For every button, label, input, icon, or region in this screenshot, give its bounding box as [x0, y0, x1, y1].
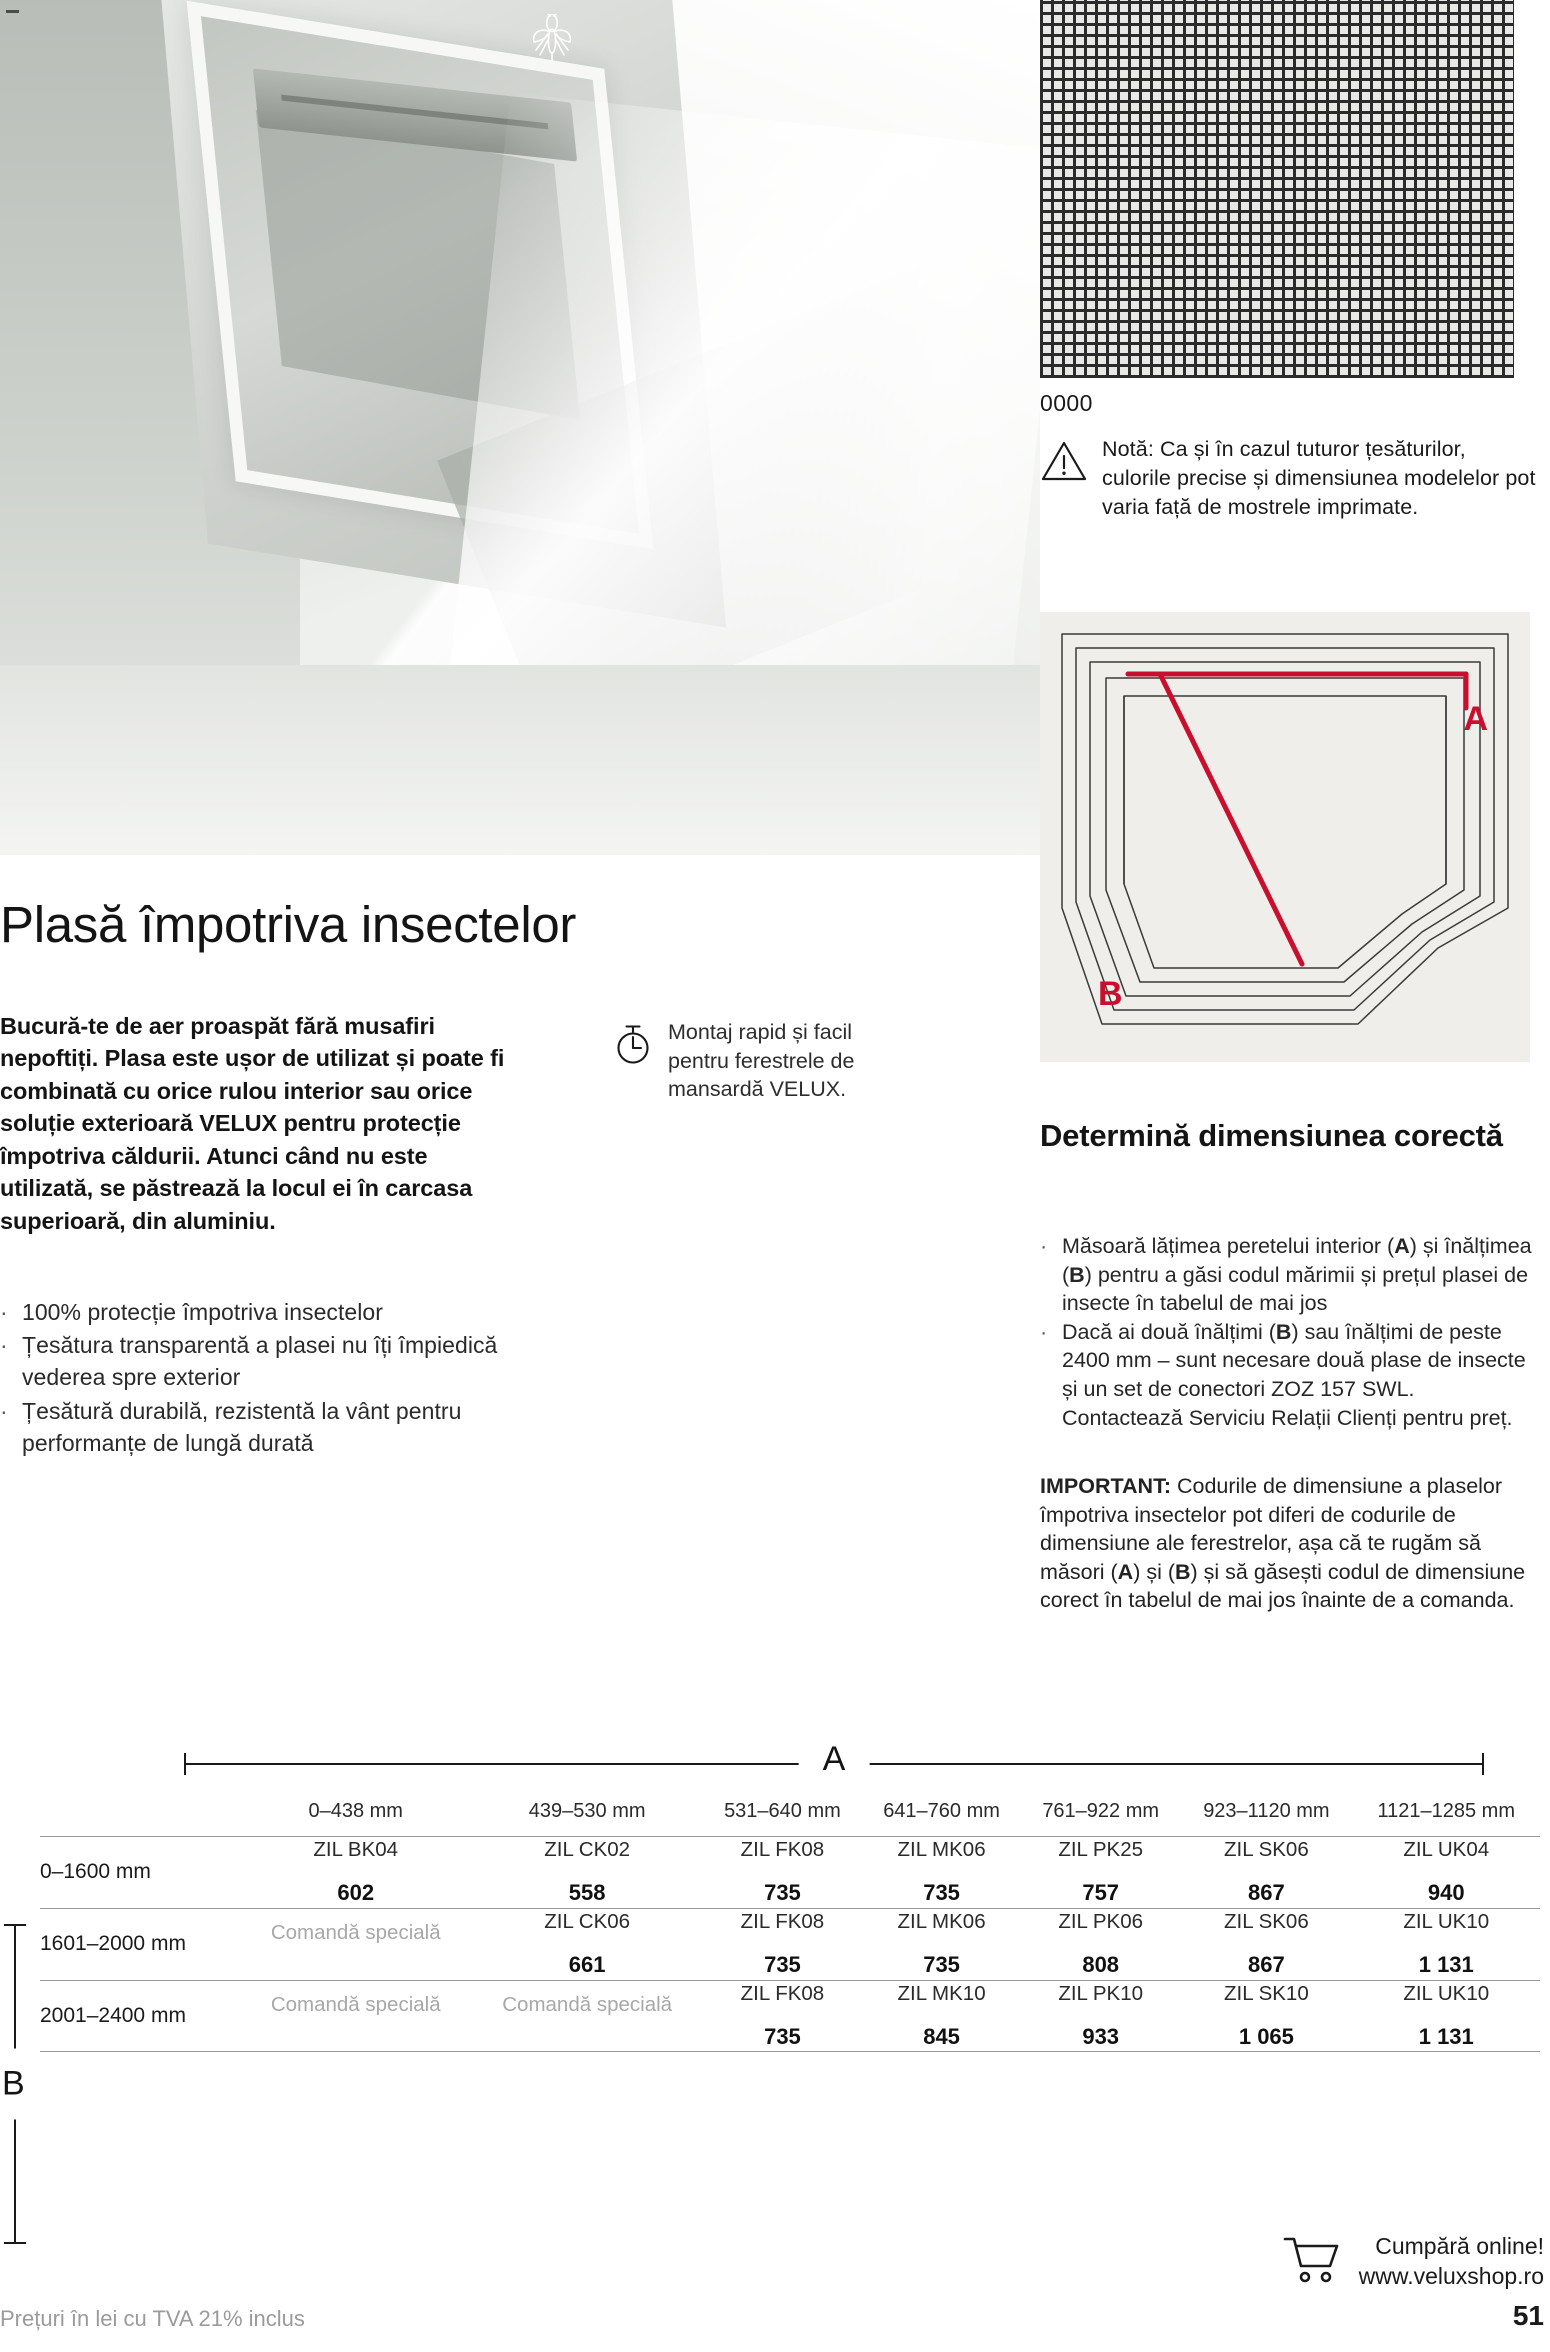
- instruction-text: Măsoară lățimea peretelui interior (A) ș…: [1062, 1232, 1540, 1318]
- column-header: 1121–1285 mm: [1353, 1800, 1540, 1837]
- product-price: 933: [1021, 2023, 1180, 2052]
- product-code: ZIL PK25: [1021, 1837, 1180, 1863]
- fabric-swatch-image: [1040, 0, 1514, 378]
- product-price: 940: [1353, 1879, 1540, 1908]
- column-header: 439–530 mm: [471, 1800, 702, 1837]
- column-header: 0–438 mm: [240, 1800, 471, 1837]
- product-code: ZIL MK10: [862, 1981, 1021, 2007]
- table-cell: ZIL CK02 558: [471, 1837, 702, 1909]
- table-cell: ZIL SK06 867: [1180, 1837, 1352, 1909]
- product-price: 602: [240, 1879, 471, 1908]
- minus-mark-icon: [6, 10, 19, 13]
- shop-online-callout[interactable]: Cumpără online! www.veluxshop.ro: [1283, 2232, 1544, 2292]
- product-price: 735: [703, 1951, 862, 1980]
- table-row: 0–1600 mm ZIL BK04 602 ZIL CK02 558 ZIL …: [40, 1837, 1540, 1909]
- page-number: 51: [1513, 2300, 1544, 2332]
- column-header: 641–760 mm: [862, 1800, 1021, 1837]
- shop-online-line1: Cumpără online!: [1375, 2233, 1544, 2259]
- product-code: ZIL MK06: [862, 1909, 1021, 1935]
- product-price: 735: [703, 2023, 862, 2052]
- important-note: IMPORTANT: Codurile de dimensiune a plas…: [1040, 1472, 1545, 1615]
- fabric-note-text: Notă: Ca și în cazul tuturor țesăturilor…: [1102, 435, 1540, 521]
- table-cell: Comandă specială: [240, 1908, 471, 1980]
- photo-floor: [0, 665, 1040, 855]
- table-row: 1601–2000 mm Comandă specială ZIL CK06 6…: [40, 1908, 1540, 1980]
- product-price: 735: [703, 1879, 862, 1908]
- product-code: ZIL SK06: [1180, 1909, 1352, 1935]
- table-cell: ZIL FK08 735: [703, 1908, 862, 1980]
- table-body: 0–1600 mm ZIL BK04 602 ZIL CK02 558 ZIL …: [40, 1837, 1540, 2052]
- fabric-code: 0000: [1040, 390, 1093, 417]
- feature-list: · 100% protecție împotriva insectelor · …: [0, 1296, 520, 1460]
- row-label: 1601–2000 mm: [40, 1908, 240, 1980]
- page-title: Plasă împotriva insectelor: [0, 895, 576, 954]
- product-price: 845: [862, 2023, 1021, 2052]
- axis-b-cap-top: [4, 1924, 26, 1926]
- lead-paragraph: Bucură-te de aer proaspăt fără musafiri …: [0, 1010, 508, 1237]
- column-header-rowlabel: [40, 1800, 240, 1837]
- column-header: 531–640 mm: [703, 1800, 862, 1837]
- measurement-diagram: A B: [1040, 612, 1530, 1062]
- special-order-label: Comandă specială: [471, 1992, 702, 2018]
- table-cell: ZIL MK06 735: [862, 1908, 1021, 1980]
- bullet-glyph: ·: [1040, 1318, 1046, 1432]
- list-item: · Țesătura transparentă a plasei nu îți …: [0, 1329, 520, 1393]
- sizing-instructions: · Măsoară lățimea peretelui interior (A)…: [1040, 1232, 1540, 1432]
- spacer: [471, 2018, 702, 2040]
- product-price: 757: [1021, 1879, 1180, 1908]
- table-cell: ZIL UK10 1 131: [1353, 1980, 1540, 2052]
- table-cell: ZIL FK08 735: [703, 1980, 862, 2052]
- row-label: 2001–2400 mm: [40, 1980, 240, 2052]
- table-cell: ZIL SK06 867: [1180, 1908, 1352, 1980]
- table-cell: ZIL UK10 1 131: [1353, 1908, 1540, 1980]
- table-cell: ZIL MK06 735: [862, 1837, 1021, 1909]
- axis-b-indicator: B: [4, 1924, 44, 2244]
- axis-b-cap-bottom: [4, 2242, 26, 2244]
- table-cell: ZIL MK10 845: [862, 1980, 1021, 2052]
- product-code: ZIL UK04: [1353, 1837, 1540, 1863]
- hero-photo: [0, 0, 1040, 855]
- product-code: ZIL PK10: [1021, 1981, 1180, 2007]
- axis-a-cap-left: [184, 1753, 186, 1775]
- important-heading: IMPORTANT:: [1040, 1474, 1171, 1498]
- special-order-label: Comandă specială: [240, 1920, 471, 1946]
- column-header: 923–1120 mm: [1180, 1800, 1352, 1837]
- product-price: 735: [862, 1879, 1021, 1908]
- right-heading: Determină dimensiunea corectă: [1040, 1118, 1540, 1154]
- list-item: · Țesătură durabilă, rezistentă la vânt …: [0, 1395, 520, 1459]
- table-cell: ZIL SK10 1 065: [1180, 1980, 1352, 2052]
- bullet-glyph: ·: [1040, 1232, 1046, 1318]
- product-code: ZIL SK06: [1180, 1837, 1352, 1863]
- list-item: · Măsoară lățimea peretelui interior (A)…: [1040, 1232, 1540, 1318]
- mosquito-icon: [529, 14, 575, 62]
- table-cell: ZIL BK04 602: [240, 1837, 471, 1909]
- table-cell: Comandă specială: [471, 1980, 702, 2052]
- diagram-label-a: A: [1463, 700, 1488, 739]
- table-header-row: 0–438 mm 439–530 mm 531–640 mm 641–760 m…: [40, 1800, 1540, 1837]
- product-code: ZIL UK10: [1353, 1909, 1540, 1935]
- axis-a-cap-right: [1482, 1753, 1484, 1775]
- product-code: ZIL BK04: [240, 1837, 471, 1863]
- table-cell: ZIL PK06 808: [1021, 1908, 1180, 1980]
- feature-text: Țesătura transparentă a plasei nu îți îm…: [22, 1329, 520, 1393]
- price-footnote: Prețuri în lei cu TVA 21% inclus: [0, 2306, 305, 2332]
- row-label: 0–1600 mm: [40, 1837, 240, 1909]
- fabric-swatch-block: 0000: [1040, 0, 1540, 380]
- product-price: 867: [1180, 1951, 1352, 1980]
- stopwatch-icon: [612, 1018, 654, 1104]
- table-row: 2001–2400 mm Comandă specială Comandă sp…: [40, 1980, 1540, 2052]
- table-cell: ZIL CK06 661: [471, 1908, 702, 1980]
- size-price-table: 0–438 mm 439–530 mm 531–640 mm 641–760 m…: [40, 1800, 1540, 2052]
- product-price: 1 131: [1353, 1951, 1540, 1980]
- table-cell: Comandă specială: [240, 1980, 471, 2052]
- table-header: 0–438 mm 439–530 mm 531–640 mm 641–760 m…: [40, 1800, 1540, 1837]
- shop-online-text: Cumpără online! www.veluxshop.ro: [1359, 2232, 1544, 2292]
- feature-text: 100% protecție împotriva insectelor: [22, 1296, 383, 1328]
- product-code: ZIL FK08: [703, 1837, 862, 1863]
- fabric-note: Notă: Ca și în cazul tuturor țesăturilor…: [1040, 435, 1540, 521]
- table-cell: ZIL PK25 757: [1021, 1837, 1180, 1909]
- column-header: 761–922 mm: [1021, 1800, 1180, 1837]
- product-code: ZIL SK10: [1180, 1981, 1352, 2007]
- bullet-glyph: ·: [0, 1395, 9, 1459]
- shop-online-url[interactable]: www.veluxshop.ro: [1359, 2263, 1544, 2289]
- product-price: 735: [862, 1951, 1021, 1980]
- diagram-label-b: B: [1098, 975, 1123, 1014]
- axis-a-indicator: A: [184, 1744, 1484, 1784]
- quick-install-callout: Montaj rapid și facil pentru ferestrele …: [612, 1018, 912, 1104]
- special-order-label: Comandă specială: [240, 1992, 471, 2018]
- product-code: ZIL FK08: [703, 1909, 862, 1935]
- instruction-text: Dacă ai două înălțimi (B) sau înălțimi d…: [1062, 1318, 1540, 1432]
- product-code: ZIL PK06: [1021, 1909, 1180, 1935]
- axis-a-label: A: [799, 1740, 870, 1779]
- product-code: ZIL CK02: [471, 1837, 702, 1863]
- product-code: ZIL UK10: [1353, 1981, 1540, 2007]
- list-item: · Dacă ai două înălțimi (B) sau înălțimi…: [1040, 1318, 1540, 1432]
- spacer: [240, 2018, 471, 2040]
- table-cell: ZIL PK10 933: [1021, 1980, 1180, 2052]
- table-cell: ZIL UK04 940: [1353, 1837, 1540, 1909]
- table-cell: ZIL FK08 735: [703, 1837, 862, 1909]
- quick-install-text: Montaj rapid și facil pentru ferestrele …: [668, 1018, 912, 1104]
- warning-triangle-icon: [1040, 435, 1088, 521]
- product-price: 867: [1180, 1879, 1352, 1908]
- bullet-glyph: ·: [0, 1296, 9, 1328]
- product-code: ZIL FK08: [703, 1981, 862, 2007]
- catalog-page: 0000 Notă: Ca și în cazul tuturor țesătu…: [0, 0, 1550, 2352]
- product-code: ZIL MK06: [862, 1837, 1021, 1863]
- product-code: ZIL CK06: [471, 1909, 702, 1935]
- product-price: 661: [471, 1951, 702, 1980]
- axis-b-label: B: [2, 2049, 25, 2120]
- shopping-cart-icon: [1283, 2235, 1341, 2288]
- feature-text: Țesătură durabilă, rezistentă la vânt pe…: [22, 1395, 520, 1459]
- list-item: · 100% protecție împotriva insectelor: [0, 1296, 520, 1328]
- product-price: 808: [1021, 1951, 1180, 1980]
- bullet-glyph: ·: [0, 1329, 9, 1393]
- product-price: 1 131: [1353, 2023, 1540, 2052]
- spacer: [240, 1946, 471, 1968]
- product-price: 558: [471, 1879, 702, 1908]
- product-price: 1 065: [1180, 2023, 1352, 2052]
